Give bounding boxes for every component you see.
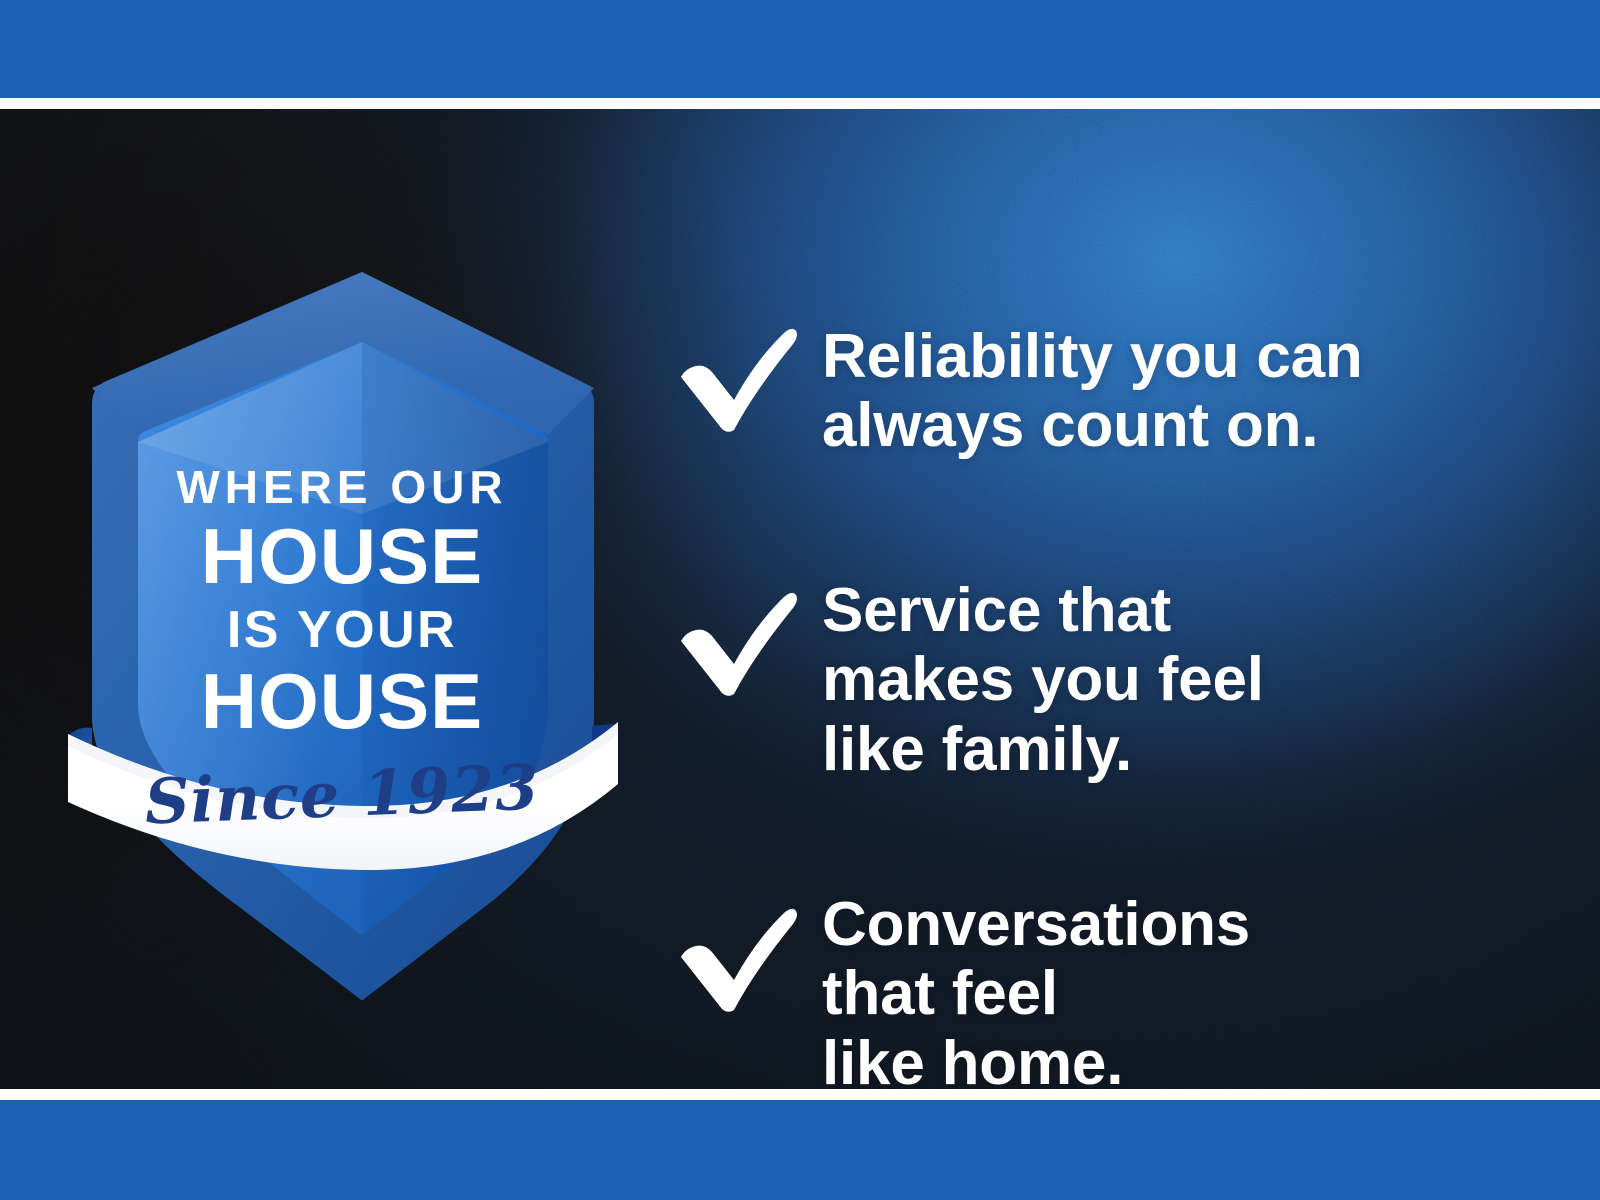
checkmark-icon bbox=[672, 576, 822, 698]
checkmark-icon bbox=[672, 322, 822, 434]
list-item-text: Service that makes you feel like family. bbox=[822, 576, 1264, 784]
list-item: Conversations that feel like home. bbox=[672, 890, 1250, 1089]
benefits-list: Reliability you can always count on. Ser… bbox=[672, 218, 1552, 1089]
top-brand-bar bbox=[0, 0, 1600, 98]
promo-graphic: Where Our House Is Your House Since 1923… bbox=[0, 0, 1600, 1200]
bottom-brand-bar bbox=[0, 1100, 1600, 1200]
checkmark-icon bbox=[672, 890, 822, 1014]
bottom-divider-rule bbox=[0, 1089, 1600, 1100]
shield-badge: Where Our House Is Your House Since 1923 bbox=[62, 264, 622, 964]
list-item: Reliability you can always count on. bbox=[672, 322, 1363, 461]
list-item: Service that makes you feel like family. bbox=[672, 576, 1264, 784]
list-item-text: Conversations that feel like home. bbox=[822, 890, 1250, 1089]
list-item-text: Reliability you can always count on. bbox=[822, 322, 1363, 461]
content-canvas: Where Our House Is Your House Since 1923… bbox=[0, 109, 1600, 1089]
top-divider-rule bbox=[0, 98, 1600, 109]
